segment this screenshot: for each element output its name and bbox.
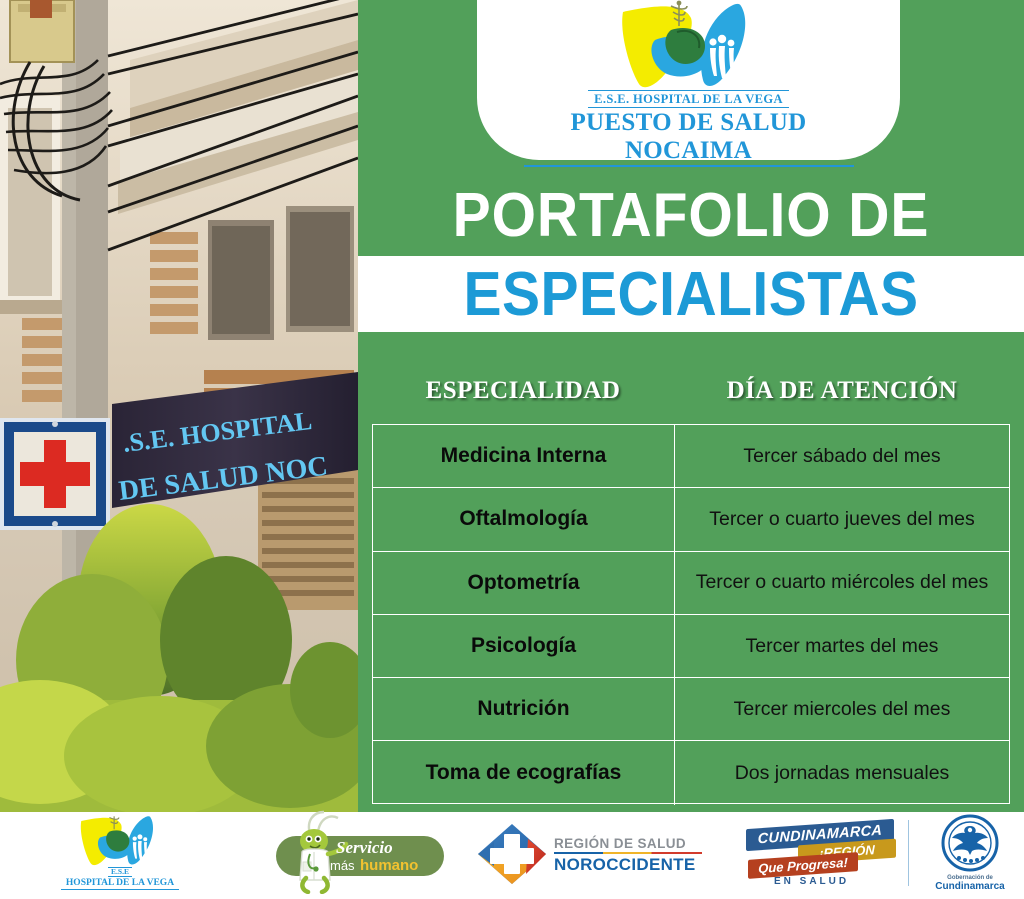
cell-especialidad: Oftalmología [373, 488, 675, 550]
diamond-cross-icon [476, 822, 548, 891]
cell-especialidad: Nutrición [373, 678, 675, 740]
logo-caption-line1: E.S.E. HOSPITAL DE LA VEGA [588, 90, 789, 108]
cell-especialidad: Psicología [373, 615, 675, 677]
cell-dia: Tercer o cuarto miércoles del mes [675, 552, 1009, 614]
footer-logo-cundinamarca: CUNDINAMARCA ¡REGIÓN Que Progresa! EN SA… [740, 812, 920, 894]
column-header-dia: DÍA DE ATENCIÓN [674, 370, 1010, 412]
table-row: Toma de ecografías Dos jornadas mensuale… [373, 741, 1009, 804]
footer-logo-bar: E.S.E HOSPITAL DE LA VEGA [0, 812, 1024, 894]
servicio-line2a: más [330, 858, 355, 873]
footer-logo-servicio-mas-humano: Servicio más humano [258, 812, 448, 894]
table-row: Optometría Tercer o cuarto miércoles del… [373, 552, 1009, 615]
footer-logo-caption: E.S.E HOSPITAL DE LA VEGA [30, 862, 210, 890]
footer-divider [908, 820, 909, 886]
footer-logo-gobernacion-cundinamarca: Gobernación de Cundinamarca [920, 812, 1020, 894]
cell-especialidad: Toma de ecografías [373, 741, 675, 804]
logo-caption-line2: PUESTO DE SALUD NOCAIMA [524, 109, 854, 167]
gobernacion-seal-eagle-icon [941, 814, 999, 877]
column-header-especialidad: ESPECIALIDAD [372, 370, 674, 412]
footer-logo-ese-hospital: E.S.E HOSPITAL DE LA VEGA [30, 812, 210, 894]
region-line1: REGIÓN DE SALUD [554, 836, 702, 851]
hospital-photo-illustration: .S.E. HOSPITAL DE SALUD NOC [0, 0, 358, 812]
cundinamarca-line3: Que Progresa! [748, 852, 858, 879]
gobernacion-line2: Cundinamarca [920, 882, 1020, 893]
cundinamarca-line4: EN SALUD [774, 876, 849, 887]
table-header: ESPECIALIDAD DÍA DE ATENCIÓN [372, 370, 1010, 412]
servicio-line2b: humano [360, 857, 418, 874]
footer-logo-region-salud-noroccidente: REGIÓN DE SALUD NOROCCIDENTE [468, 812, 698, 894]
footer-logo-line2: HOSPITAL DE LA VEGA [61, 879, 179, 890]
logo-caption: E.S.E. HOSPITAL DE LA VEGA PUESTO DE SAL… [477, 90, 900, 167]
region-line2: NOROCCIDENTE [554, 855, 702, 875]
cell-dia: Dos jornadas mensuales [675, 741, 1009, 804]
region-tricolor-bar [554, 852, 702, 854]
hospital-photo: .S.E. HOSPITAL DE SALUD NOC [0, 0, 358, 812]
footer-logo-line1: E.S.E [108, 867, 132, 877]
poster-root: .S.E. HOSPITAL DE SALUD NOC [0, 0, 1024, 894]
page-title-line1: PORTAFOLIO DE [385, 176, 998, 256]
table-row: Oftalmología Tercer o cuarto jueves del … [373, 488, 1009, 551]
cell-dia: Tercer o cuarto jueves del mes [675, 488, 1009, 550]
region-salud-text: REGIÓN DE SALUD NOROCCIDENTE [554, 836, 702, 875]
cell-dia: Tercer sábado del mes [675, 425, 1009, 487]
caduceus-bird-leaf-logo-icon [609, 0, 769, 97]
specialties-table: Medicina Interna Tercer sábado del mes O… [372, 424, 1010, 804]
cundinamarca-banner-red: Que Progresa! [748, 852, 858, 879]
logo-plate: E.S.E. HOSPITAL DE LA VEGA PUESTO DE SAL… [477, 0, 900, 160]
servicio-line1: Servicio [336, 838, 393, 858]
table-row: Medicina Interna Tercer sábado del mes [373, 425, 1009, 488]
page-title-line2: ESPECIALISTAS [385, 256, 998, 332]
gobernacion-caption: Gobernación de Cundinamarca [920, 875, 1020, 892]
cell-especialidad: Medicina Interna [373, 425, 675, 487]
table-row: Nutrición Tercer miercoles del mes [373, 678, 1009, 741]
cell-dia: Tercer miercoles del mes [675, 678, 1009, 740]
table-row: Psicología Tercer martes del mes [373, 615, 1009, 678]
cell-dia: Tercer martes del mes [675, 615, 1009, 677]
cell-especialidad: Optometría [373, 552, 675, 614]
